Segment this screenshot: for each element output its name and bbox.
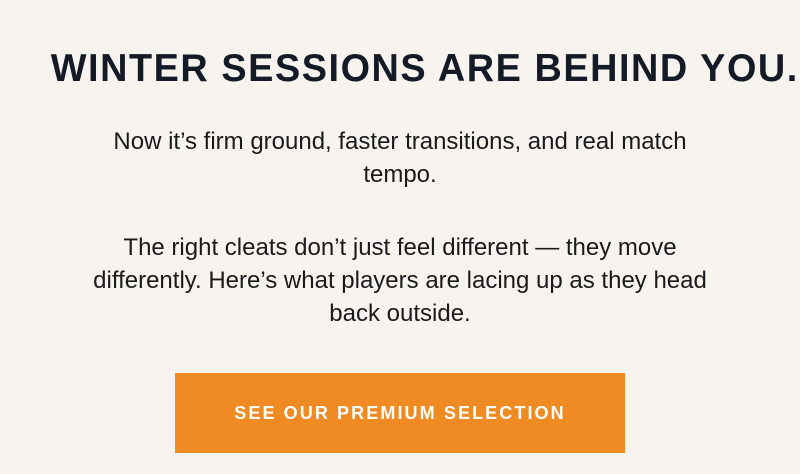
body-paragraph-1: Now it’s firm ground, faster transitions… (100, 125, 700, 191)
body-paragraph-2: The right cleats don’t just feel differe… (90, 231, 710, 330)
cta-container: SEE OUR PREMIUM SELECTION (175, 373, 625, 453)
promotional-banner: WINTER SESSIONS ARE BEHIND YOU. Now it’s… (0, 0, 800, 474)
page-title: WINTER SESSIONS ARE BEHIND YOU. (51, 47, 749, 91)
see-premium-selection-button[interactable]: SEE OUR PREMIUM SELECTION (175, 373, 625, 453)
